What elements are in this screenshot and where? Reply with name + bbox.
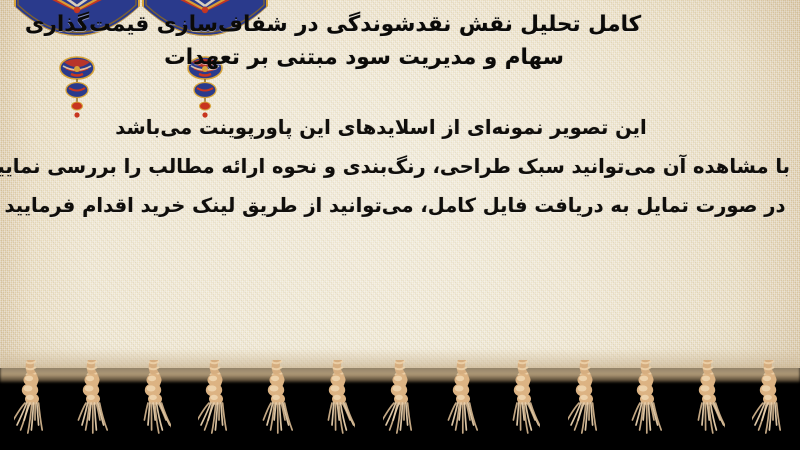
fringe-tassel — [752, 360, 786, 436]
slide-title-line-1: کامل تحلیل نقش نقدشوندگی در شفاف‌سازی قی… — [0, 8, 666, 41]
fringe-tassel — [445, 360, 479, 436]
slide-title-line-2: سهام و مدیریت سود مبتنی بر تعهدات — [0, 41, 728, 74]
fringe-tassel — [75, 360, 109, 436]
fringe-tassel — [137, 360, 171, 436]
slide-title: کامل تحلیل نقش نقدشوندگی در شفاف‌سازی قی… — [0, 8, 786, 74]
fringe-tassel — [260, 360, 294, 436]
fringe-tassel — [321, 360, 355, 436]
fringe-tassel — [14, 360, 48, 436]
body-line-2: با مشاهده آن می‌توانید سبک طراحی، رنگ‌بن… — [0, 147, 790, 186]
carpet-fringe — [0, 360, 800, 436]
fringe-tassel — [568, 360, 602, 436]
fringe-tassel — [691, 360, 725, 436]
presentation-slide: کامل تحلیل نقش نقدشوندگی در شفاف‌سازی قی… — [0, 0, 800, 450]
fringe-tassel — [198, 360, 232, 436]
body-line-3: در صورت تمایل به دریافت فایل کامل، می‌تو… — [0, 186, 790, 225]
body-line-1: این تصویر نمونه‌ای از اسلایدهای این پاور… — [0, 108, 762, 147]
fringe-tassel — [383, 360, 417, 436]
slide-body: این تصویر نمونه‌ای از اسلایدهای این پاور… — [0, 108, 790, 225]
fringe-tassel — [629, 360, 663, 436]
fringe-tassel — [506, 360, 540, 436]
